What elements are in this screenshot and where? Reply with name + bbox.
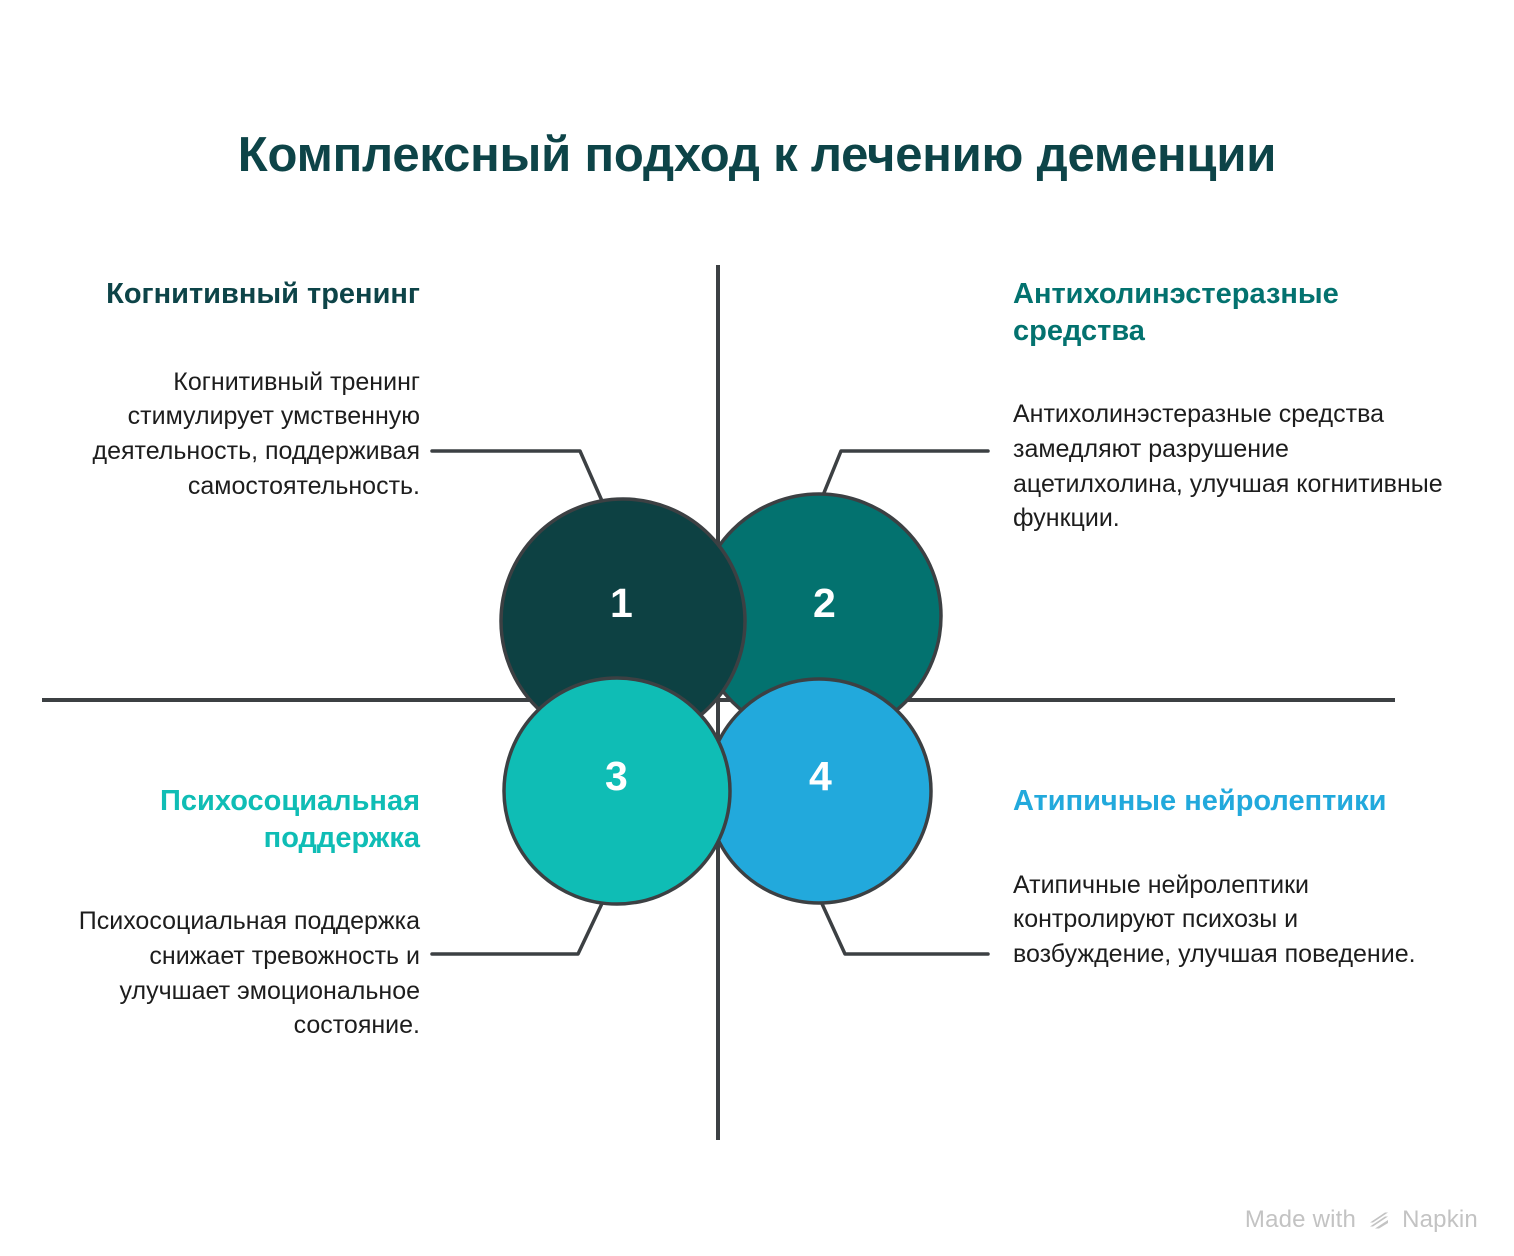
circle-cluster: 1 2 3 4 — [487, 473, 957, 923]
quadrant-cognitive-training: Когнитивный тренинг Когнитивный тренинг … — [58, 276, 420, 504]
watermark-prefix: Made with — [1245, 1206, 1356, 1234]
napkin-logo-icon — [1366, 1207, 1392, 1233]
quadrant-4-body: Атипичные нейролептики контролируют псих… — [1013, 868, 1433, 972]
quadrant-3-heading: Психосоциальная поддержка — [58, 783, 420, 856]
quadrant-atypical-antipsychotics: Атипичные нейролептики Атипичные нейроле… — [1013, 783, 1433, 972]
circle-3 — [504, 678, 730, 904]
quadrant-1-heading: Когнитивный тренинг — [58, 276, 420, 313]
watermark-brand: Napkin — [1402, 1206, 1478, 1234]
quadrant-anticholinesterase-agents: Антихолинэстеразные средства Антихолинэс… — [1013, 276, 1453, 536]
infographic-canvas: Комплексный подход к лечению деменции 1 … — [0, 0, 1514, 1256]
quadrant-4-heading: Атипичные нейролептики — [1013, 783, 1433, 820]
napkin-watermark: Made with Napkin — [1245, 1206, 1478, 1234]
quadrant-1-body: Когнитивный тренинг стимулирует умственн… — [58, 365, 420, 504]
page-title: Комплексный подход к лечению деменции — [0, 129, 1514, 183]
quadrant-2-body: Антихолинэстеразные средства замедляют р… — [1013, 397, 1453, 536]
quadrant-psychosocial-support: Психосоциальная поддержка Психосоциальна… — [58, 783, 420, 1043]
circle-4 — [707, 679, 931, 903]
quadrant-2-heading: Антихолинэстеразные средства — [1013, 276, 1453, 349]
quadrant-3-body: Психосоциальная поддержка снижает тревож… — [58, 904, 420, 1043]
